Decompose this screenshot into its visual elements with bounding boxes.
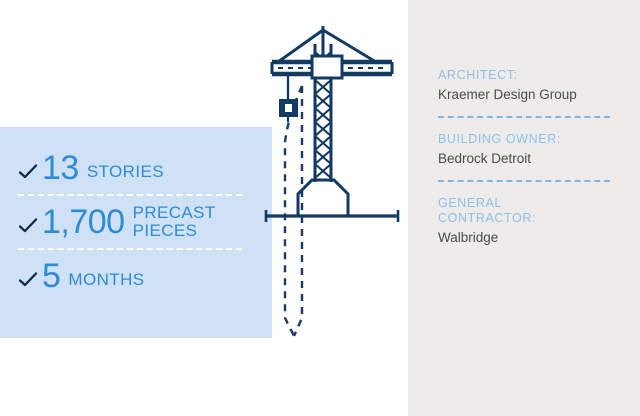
infographic-canvas: ARCHITECT: Kraemer Design Group BUILDING…: [0, 0, 640, 416]
info-value-architect: Kraemer Design Group: [438, 86, 618, 103]
stat-unit-stories: STORIES: [87, 163, 164, 181]
stats-list: 13 STORIES 1,700 PRECAST PIECES: [18, 149, 256, 295]
stat-number-stories: 13: [42, 149, 79, 187]
info-label-general-contractor: GENERAL CONTRACTOR:: [438, 196, 618, 226]
check-icon: [18, 271, 38, 291]
stats-card: 13 STORIES 1,700 PRECAST PIECES: [0, 127, 272, 338]
info-entry-building-owner: BUILDING OWNER: Bedrock Detroit: [438, 132, 618, 167]
info-value-general-contractor: Walbridge: [438, 229, 618, 246]
check-icon: [18, 217, 38, 237]
stat-number-months: 5: [42, 257, 60, 295]
info-value-building-owner: Bedrock Detroit: [438, 150, 618, 167]
info-entry-general-contractor: GENERAL CONTRACTOR: Walbridge: [438, 196, 618, 246]
info-label-building-owner: BUILDING OWNER:: [438, 132, 618, 147]
info-label-architect: ARCHITECT:: [438, 68, 618, 83]
info-entry-architect: ARCHITECT: Kraemer Design Group: [438, 68, 618, 103]
stat-unit-precast-pieces: PRECAST PIECES: [133, 204, 216, 240]
stat-unit-months: MONTHS: [68, 271, 144, 289]
stat-row-precast-pieces: 1,700 PRECAST PIECES: [18, 203, 256, 241]
project-info-list: ARCHITECT: Kraemer Design Group BUILDING…: [438, 68, 618, 246]
stat-row-months: 5 MONTHS: [18, 257, 256, 295]
stat-divider-2: [18, 248, 242, 250]
project-info-panel: ARCHITECT: Kraemer Design Group BUILDING…: [408, 0, 640, 416]
info-divider-2: [438, 180, 610, 182]
stat-divider-1: [18, 194, 242, 196]
stat-number-precast-pieces: 1,700: [42, 203, 125, 241]
info-divider-1: [438, 116, 610, 118]
stat-row-stories: 13 STORIES: [18, 149, 256, 187]
tower-crane-icon: [258, 18, 408, 233]
check-icon: [18, 163, 38, 183]
